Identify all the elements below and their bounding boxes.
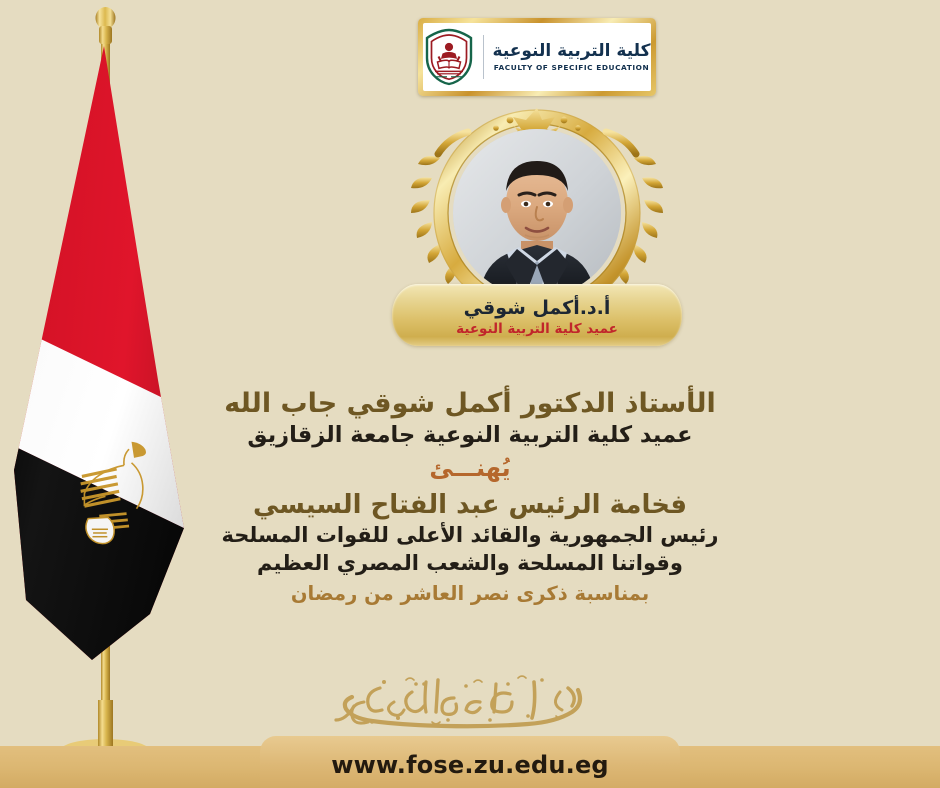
dean-portrait-block: أ.د.أكمل شوقي عميد كلية التربية النوعية — [392, 118, 682, 350]
zagazig-university-emblem-icon — [424, 28, 474, 86]
logo-english-name: FACULTY OF SPECIFIC EDUCATION — [494, 64, 649, 71]
message-occasion: بمناسبة ذكرى نصر العاشر من رمضان — [0, 582, 940, 605]
arabic-calligraphy-greeting — [320, 672, 620, 736]
dean-plaque-name: أ.د.أكمل شوقي — [464, 299, 611, 319]
faculty-logo-box: كلية التربية النوعية FACULTY OF SPECIFIC… — [418, 18, 656, 96]
dean-plaque-role: عميد كلية التربية النوعية — [456, 322, 618, 336]
footer-url-tab[interactable]: www.fose.zu.edu.eg — [260, 736, 680, 788]
logo-text: كلية التربية النوعية FACULTY OF SPECIFIC… — [493, 43, 651, 71]
message-president-title: رئيس الجمهورية والقائد الأعلى للقوات الم… — [0, 523, 940, 548]
dean-name-plaque: أ.د.أكمل شوقي عميد كلية التربية النوعية — [392, 284, 682, 346]
logo-divider — [483, 35, 484, 79]
footer-website-url[interactable]: www.fose.zu.edu.eg — [331, 751, 609, 779]
message-dean-name: الأستاذ الدكتور أكمل شوقي جاب الله — [0, 388, 940, 420]
logo-arabic-name: كلية التربية النوعية — [493, 43, 651, 60]
message-armed-forces: وقواتنا المسلحة والشعب المصري العظيم — [0, 551, 940, 576]
message-verb: يُهنـــئ — [0, 454, 940, 482]
message-president-name: فخامة الرئيس عبد الفتاح السيسي — [0, 490, 940, 521]
greeting-message: الأستاذ الدكتور أكمل شوقي جاب الله عميد … — [0, 388, 940, 605]
dean-portrait-photo — [453, 129, 621, 297]
greeting-card: كلية التربية النوعية FACULTY OF SPECIFIC… — [0, 0, 940, 788]
message-dean-title: عميد كلية التربية النوعية جامعة الزقازيق — [0, 422, 940, 449]
logo-inner: كلية التربية النوعية FACULTY OF SPECIFIC… — [423, 23, 651, 91]
gold-oval-laurel-frame — [442, 118, 632, 308]
